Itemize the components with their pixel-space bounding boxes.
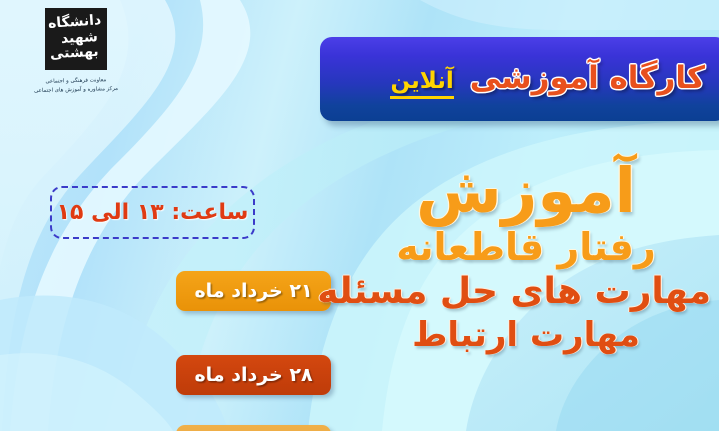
time-badge-label: ساعت: ۱۳ الی ۱۵ bbox=[57, 200, 249, 225]
headline-line-2: رفتار قاطعانه bbox=[341, 228, 711, 266]
date-badge-3: ۴ تیر ماه bbox=[176, 425, 331, 431]
headline-line-1: آموزش bbox=[341, 160, 711, 222]
time-badge: ساعت: ۱۳ الی ۱۵ bbox=[50, 186, 255, 239]
logo-glyph-layer: دانشگاه شهید بهشتی bbox=[49, 12, 103, 66]
workshop-poster: دانشگاه شهید بهشتی معاونت فرهنگی و اجتما… bbox=[0, 0, 719, 431]
logo-glyph-line-3: بهشتی bbox=[50, 45, 99, 62]
university-logo: دانشگاه شهید بهشتی معاونت فرهنگی و اجتما… bbox=[22, 8, 130, 96]
headline-stack: آموزش رفتار قاطعانه مهارت های حل مسئله م… bbox=[341, 160, 711, 352]
date-badge-1-label: ۲۱ خرداد ماه bbox=[194, 280, 312, 302]
banner-row: کارگاه آموزشی آنلاین bbox=[338, 60, 705, 99]
university-logo-calligraphy: دانشگاه شهید بهشتی bbox=[49, 12, 103, 66]
university-logo-caption: معاونت فرهنگی و اجتماعی مرکز مشاوره و آم… bbox=[22, 76, 130, 98]
university-logo-mark: دانشگاه شهید بهشتی bbox=[45, 8, 107, 70]
headline-line-4: مهارت ارتباط bbox=[341, 318, 711, 352]
headline-line-3: مهارت های حل مسئله bbox=[341, 274, 711, 310]
logo-caption-line-2: مرکز مشاوره و آموزش های اجتماعی bbox=[22, 85, 130, 97]
date-badge-2-label: ۲۸ خرداد ماه bbox=[194, 364, 312, 386]
date-badge-1: ۲۱ خرداد ماه bbox=[176, 271, 331, 311]
banner-title: کارگاه آموزشی bbox=[470, 60, 705, 96]
logo-glyph-line-1: دانشگاه bbox=[47, 13, 101, 31]
banner-subtitle-online: آنلاین bbox=[390, 68, 453, 99]
workshop-banner: کارگاه آموزشی آنلاین bbox=[320, 37, 719, 121]
date-badge-2: ۲۸ خرداد ماه bbox=[176, 355, 331, 395]
